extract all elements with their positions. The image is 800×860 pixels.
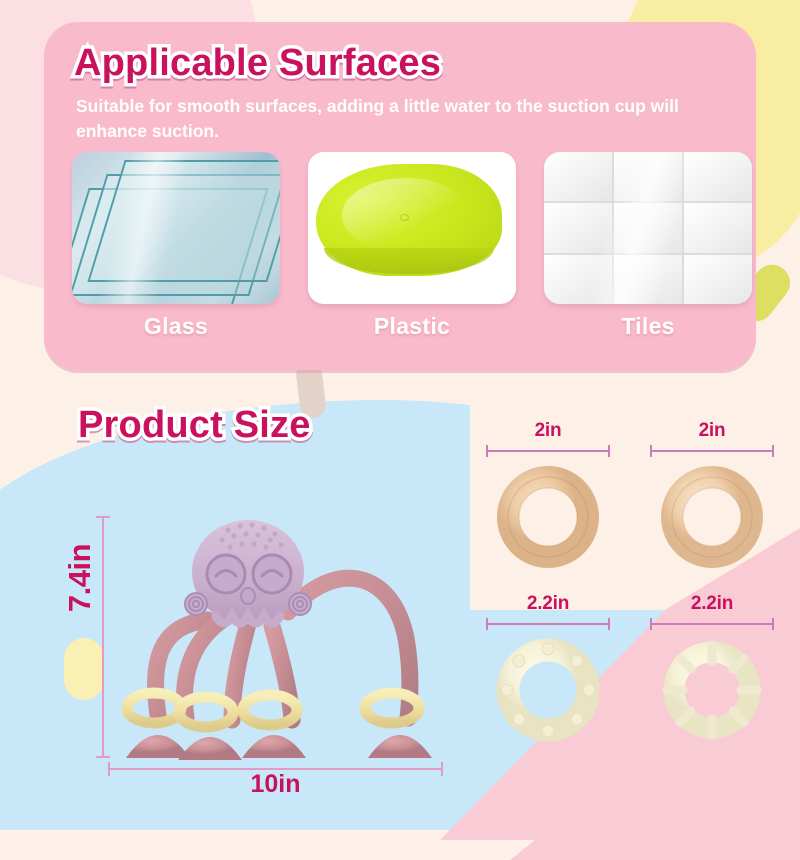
accessory-wooden-ring-left: 2in: [478, 420, 618, 571]
dimension-line-shaft: [650, 450, 774, 452]
dimension-line-shaft: [486, 623, 610, 625]
tile-cell: [684, 255, 752, 304]
wooden-ring-art: [642, 463, 782, 571]
suction-cup-3: [242, 735, 306, 758]
ribbed-ring-art: [642, 636, 782, 744]
surface-card-glass: Glass: [72, 152, 280, 340]
octopus-toy-illustration: [120, 500, 450, 770]
tile-cell: [684, 152, 752, 201]
dimension-cap-right: [772, 445, 774, 457]
tiles-thumbnail: [544, 152, 752, 304]
octopus-nose: [241, 588, 255, 604]
tile-cell: [684, 203, 752, 252]
tile-cell: [614, 255, 682, 304]
accessory-row-top: 2in: [478, 420, 788, 571]
plastic-center-dot: [400, 214, 409, 221]
dimension-cap-left: [486, 618, 488, 630]
panel-subtitle: Suitable for smooth surfaces, adding a l…: [76, 94, 726, 145]
tile-cell: [544, 255, 612, 304]
surface-card-list: Glass Plastic: [72, 152, 752, 340]
suction-cup-1: [126, 735, 190, 758]
suction-cup-4: [368, 735, 432, 758]
surface-card-tiles: Tiles: [544, 152, 752, 340]
dimension-cap-left: [650, 618, 652, 630]
octopus-head: [185, 520, 311, 624]
dimension-line-shaft: [650, 623, 774, 625]
dimension-cap-right: [772, 618, 774, 630]
accessory-silicone-ribbed-ring: 2.2in: [642, 593, 782, 744]
bumpy-ring-art: [478, 636, 618, 744]
product-size-title: Product Size: [78, 404, 311, 447]
accessory-row-bottom: 2.2in: [478, 593, 788, 744]
suction-cup-2: [178, 737, 242, 760]
tentacle-mid-right: [272, 626, 292, 720]
tile-cell: [544, 152, 612, 201]
dimension-line-shaft: [486, 450, 610, 452]
width-dimension-label: 10in: [108, 770, 443, 799]
dimension-cap-bottom: [96, 756, 110, 758]
plastic-thumbnail: [308, 152, 516, 304]
dimension-cap-left: [650, 445, 652, 457]
wooden-ring-art: [478, 463, 618, 571]
accessory-silicone-bumpy-ring: 2.2in: [478, 593, 618, 744]
accessory-size-grid: 2in: [478, 420, 788, 766]
surface-label-plastic: Plastic: [308, 313, 516, 340]
octopus-suction-cups: [126, 735, 432, 760]
dimension-line-shaft: [102, 516, 104, 758]
accessory-size-label: 2.2in: [478, 593, 618, 615]
dimension-cap-left: [486, 445, 488, 457]
surface-label-glass: Glass: [72, 313, 280, 340]
accessory-dimension-line: [650, 618, 774, 630]
tile-grid: [544, 152, 752, 304]
background-cream-pill: [64, 638, 104, 700]
accessory-dimension-line: [650, 445, 774, 457]
accessory-wooden-ring-right: 2in: [642, 420, 782, 571]
applicable-surfaces-panel: Applicable Surfaces Suitable for smooth …: [44, 22, 756, 370]
tile-cell: [544, 203, 612, 252]
surface-label-tiles: Tiles: [544, 313, 752, 340]
accessory-size-label: 2in: [642, 420, 782, 442]
glass-thumbnail: [72, 152, 280, 304]
tile-cell: [614, 152, 682, 201]
dimension-cap-right: [608, 618, 610, 630]
tile-cell: [614, 203, 682, 252]
dimension-cap-top: [96, 516, 110, 518]
height-dimension-label: 7.4in: [62, 544, 98, 612]
octopus-threaded-rings: [127, 693, 419, 727]
dimension-cap-right: [608, 445, 610, 457]
accessory-dimension-line: [486, 618, 610, 630]
accessory-size-label: 2in: [478, 420, 618, 442]
surface-card-plastic: Plastic: [308, 152, 516, 340]
accessory-dimension-line: [486, 445, 610, 457]
accessory-size-label: 2.2in: [642, 593, 782, 615]
panel-title: Applicable Surfaces: [74, 42, 441, 85]
